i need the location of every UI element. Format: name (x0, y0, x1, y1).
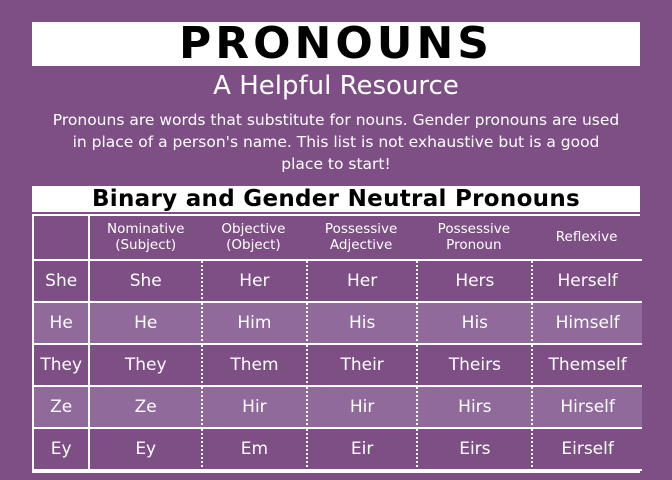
cell-they-reflexive: Themself (531, 345, 642, 387)
column-header-nominative-line1: Nominative (90, 221, 201, 237)
table-row: Ey Ey Em Eir Eirs Eirself (34, 429, 642, 471)
row-label-she: She (34, 261, 90, 303)
column-header-objective-line1: Objective (201, 221, 306, 237)
cell-ey-nominative: Ey (90, 429, 201, 471)
intro-band: A Helpful Resource Pronouns are words th… (32, 66, 640, 186)
cell-she-objective: Her (201, 261, 306, 303)
row-label-he: He (34, 303, 90, 345)
cell-she-reflexive: Herself (531, 261, 642, 303)
column-header-possessive-pronoun-line1: Possessive (416, 221, 531, 237)
pronoun-table: Nominative (Subject) Objective (Object) … (34, 216, 642, 471)
cell-he-reflexive: Himself (531, 303, 642, 345)
column-header-nominative-line2: (Subject) (90, 237, 201, 253)
row-label-ey: Ey (34, 429, 90, 471)
table-outer-frame: Nominative (Subject) Objective (Object) … (32, 214, 640, 473)
column-header-objective: Objective (Object) (201, 216, 306, 261)
poster-inner: PRONOUNS A Helpful Resource Pronouns are… (32, 22, 640, 462)
section-band: Binary and Gender Neutral Pronouns (32, 186, 640, 212)
cell-ze-reflexive: Hirself (531, 387, 642, 429)
poster-frame: PRONOUNS A Helpful Resource Pronouns are… (0, 0, 672, 480)
table-row: Ze Ze Hir Hir Hirs Hirself (34, 387, 642, 429)
cell-they-possessive-pronoun: Theirs (416, 345, 531, 387)
page-subtitle: A Helpful Resource (44, 68, 628, 109)
title-band: PRONOUNS (32, 22, 640, 66)
column-header-objective-line2: (Object) (201, 237, 306, 253)
cell-ze-nominative: Ze (90, 387, 201, 429)
cell-ey-possessive-adjective: Eir (306, 429, 417, 471)
page-title: PRONOUNS (179, 22, 493, 66)
row-label-they: They (34, 345, 90, 387)
column-header-possessive-pronoun-line2: Pronoun (416, 237, 531, 253)
cell-ze-possessive-adjective: Hir (306, 387, 417, 429)
cell-he-possessive-pronoun: His (416, 303, 531, 345)
table-header-row: Nominative (Subject) Objective (Object) … (34, 216, 642, 261)
table-wrap: Nominative (Subject) Objective (Object) … (32, 212, 640, 473)
column-header-possessive-pronoun: Possessive Pronoun (416, 216, 531, 261)
cell-ey-possessive-pronoun: Eirs (416, 429, 531, 471)
table-row: He He Him His His Himself (34, 303, 642, 345)
row-label-ze: Ze (34, 387, 90, 429)
column-header-possessive-adjective-line2: Adjective (306, 237, 417, 253)
table-row: They They Them Their Theirs Themself (34, 345, 642, 387)
cell-he-objective: Him (201, 303, 306, 345)
column-header-blank (34, 216, 90, 261)
cell-ze-objective: Hir (201, 387, 306, 429)
cell-she-nominative: She (90, 261, 201, 303)
column-header-reflexive-line1: Reflexive (531, 229, 642, 245)
cell-ey-reflexive: Eirself (531, 429, 642, 471)
cell-they-nominative: They (90, 345, 201, 387)
cell-ey-objective: Em (201, 429, 306, 471)
column-header-reflexive: Reflexive (531, 216, 642, 261)
section-title: Binary and Gender Neutral Pronouns (92, 186, 580, 212)
intro-paragraph: Pronouns are words that substitute for n… (44, 109, 628, 176)
cell-they-objective: Them (201, 345, 306, 387)
cell-she-possessive-adjective: Her (306, 261, 417, 303)
cell-he-possessive-adjective: His (306, 303, 417, 345)
column-header-nominative: Nominative (Subject) (90, 216, 201, 261)
table-row: She She Her Her Hers Herself (34, 261, 642, 303)
cell-he-nominative: He (90, 303, 201, 345)
cell-ze-possessive-pronoun: Hirs (416, 387, 531, 429)
column-header-possessive-adjective: Possessive Adjective (306, 216, 417, 261)
table-body: She She Her Her Hers Herself He He Him H… (34, 261, 642, 471)
cell-they-possessive-adjective: Their (306, 345, 417, 387)
cell-she-possessive-pronoun: Hers (416, 261, 531, 303)
column-header-possessive-adjective-line1: Possessive (306, 221, 417, 237)
